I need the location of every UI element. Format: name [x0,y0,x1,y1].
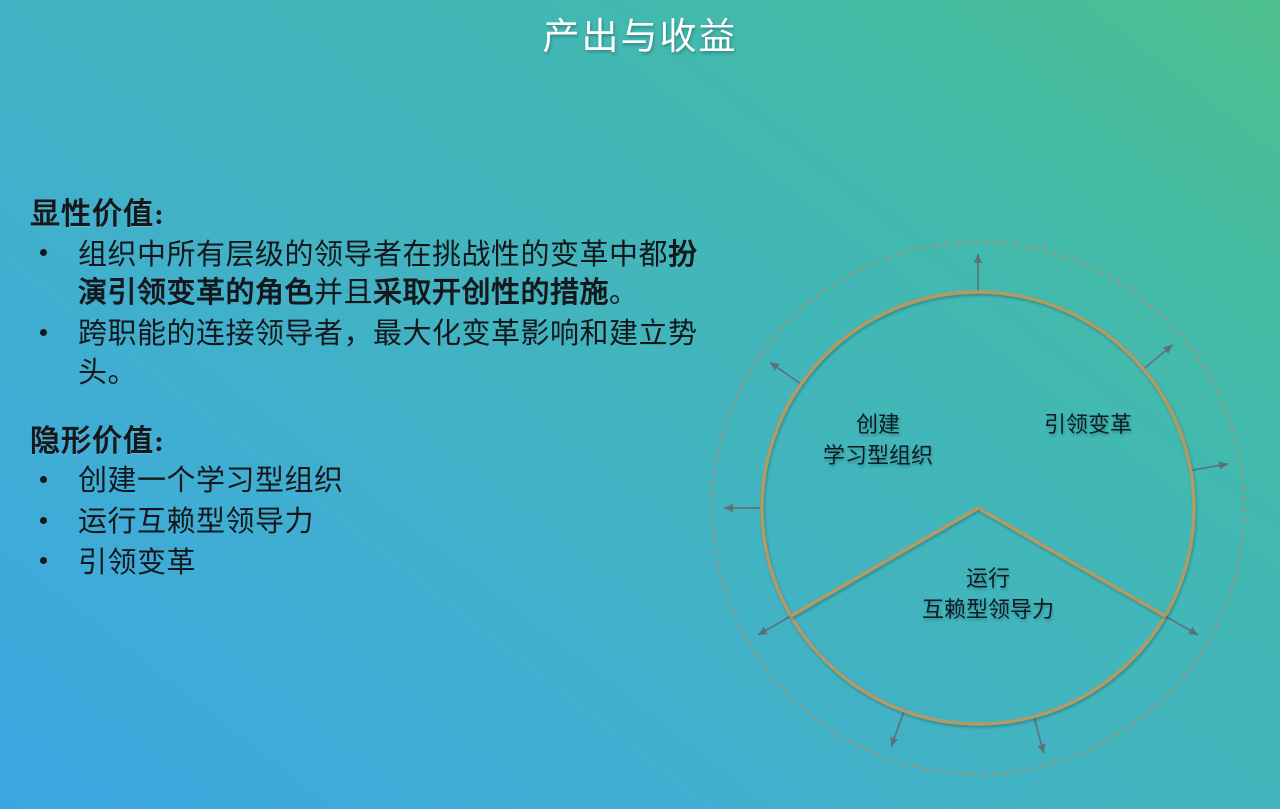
outward-arrow-icon [770,362,803,385]
content-column: 显性价值: 组织中所有层级的领导者在挑战性的变革中都扮演引领变革的角色并且采取开… [30,196,710,585]
outward-arrow-icon [1033,715,1045,754]
list-item: 创建一个学习型组织 [30,462,710,501]
bullet-list-implicit-value: 创建一个学习型组织 运行互赖型领导力 引领变革 [30,462,710,583]
bullet-dot-icon [40,476,47,483]
outward-arrow-icon [724,504,764,512]
bullet-dot-icon [40,517,47,524]
bullet-dot-icon [40,329,47,336]
outward-arrow-icon [974,254,982,294]
outward-arrow-icon [1142,345,1173,371]
sector-label-build-learning-organization: 创建学习型组织 [823,412,933,468]
slide-root: 产出与收益 显性价值: 组织中所有层级的领导者在挑战性的变革中都扮演引领变革的角… [0,0,1280,809]
sector-label-run-interdependent-leadership: 运行互赖型领导力 [922,566,1054,622]
bullet-dot-icon [40,249,47,256]
list-item: 运行互赖型领导力 [30,503,710,542]
bullet-dot-icon [40,557,47,564]
list-item: 引领变革 [30,544,710,583]
bullet-list-explicit-value: 组织中所有层级的领导者在挑战性的变革中都扮演引领变革的角色并且采取开创性的措施。… [30,236,710,393]
list-item: 组织中所有层级的领导者在挑战性的变革中都扮演引领变革的角色并且采取开创性的措施。 [30,236,710,314]
wheel-svg: 引领变革运行互赖型领导力创建学习型组织 [690,220,1266,796]
three-sector-wheel-diagram: 引领变革运行互赖型领导力创建学习型组织 [690,220,1266,796]
outward-arrow-icon [890,709,905,747]
bullet-text: 组织中所有层级的领导者在挑战性的变革中都扮演引领变革的角色并且采取开创性的措施。 [78,239,698,310]
outward-arrow-icon [758,615,793,635]
bullet-text: 运行互赖型领导力 [78,506,314,538]
outward-arrow-icon [1189,461,1228,471]
list-item: 跨职能的连接领导者，最大化变革影响和建立势头。 [30,315,710,393]
page-title: 产出与收益 [0,6,1280,60]
outward-arrow-icon [1163,615,1198,635]
bullet-text: 创建一个学习型组织 [78,465,344,497]
sector-label-lead-change: 引领变革 [1044,412,1132,437]
bullet-text: 跨职能的连接领导者，最大化变革影响和建立势头。 [78,318,698,389]
section-heading-implicit-value: 隐形价值: [30,423,710,461]
section-heading-explicit-value: 显性价值: [30,196,710,234]
outward-arrows-group [724,254,1228,753]
bullet-text: 引领变革 [78,547,196,579]
